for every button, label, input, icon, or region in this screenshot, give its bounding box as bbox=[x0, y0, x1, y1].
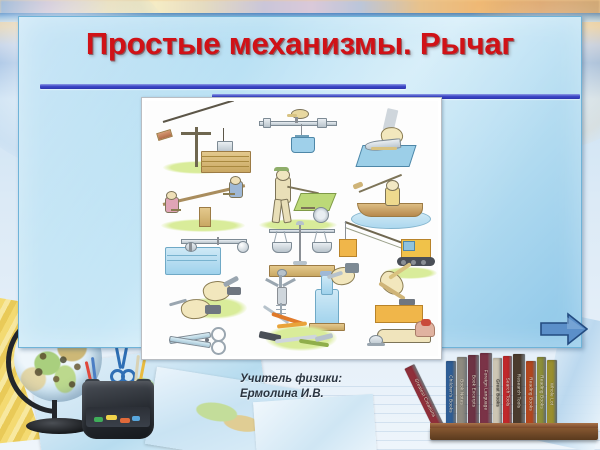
globe-stem bbox=[52, 400, 57, 420]
book-spine[interactable]: Reading Books bbox=[537, 357, 546, 427]
book-title: Whole Lot bbox=[550, 382, 555, 404]
organizer-marker bbox=[106, 415, 117, 420]
page-title: Простые механизмы. Рычаг bbox=[0, 26, 600, 62]
book-row: Greatest CreationsChildren's BooksBook N… bbox=[434, 353, 557, 427]
book-spine[interactable]: Book Excerpts bbox=[468, 355, 479, 427]
illustration-cistern-float-valve bbox=[165, 233, 253, 277]
author-caption: Учитель физики: Ермолина И.В. bbox=[240, 372, 430, 402]
caption-line-name: Ермолина И.В. bbox=[240, 387, 430, 402]
book-title: Book Notes bbox=[460, 379, 465, 405]
book-spine[interactable]: Foreign Language bbox=[480, 353, 492, 427]
book-spine[interactable]: Research Tools bbox=[513, 354, 525, 427]
book-spine[interactable]: Search Tools bbox=[503, 356, 512, 427]
illustration-frame bbox=[141, 97, 442, 360]
book-spine[interactable]: Reading Books bbox=[526, 361, 536, 427]
book-title: Research Tools bbox=[517, 373, 522, 407]
illustration-forearm-lever bbox=[367, 319, 438, 355]
illustration-well-crane-shadoof bbox=[157, 115, 255, 177]
organizer-marker bbox=[120, 418, 130, 423]
book-title: Reading Books bbox=[529, 377, 534, 411]
book-title: Foreign Language bbox=[484, 370, 489, 411]
book-title: Great Books bbox=[495, 379, 500, 407]
book-title: Children's Books bbox=[449, 375, 454, 413]
illustration-balance-beam-weight bbox=[257, 109, 341, 165]
book-spine[interactable]: Book Notes bbox=[457, 357, 467, 427]
illustration-hands-with-tools bbox=[165, 277, 257, 329]
presentation-slide: Greatest CreationsChildren's BooksBook N… bbox=[0, 0, 600, 450]
bookshelf: Greatest CreationsChildren's BooksBook N… bbox=[430, 350, 600, 446]
book-title: Book Excerpts bbox=[471, 375, 476, 407]
organizer-clip bbox=[132, 416, 140, 421]
title-underline-top bbox=[40, 84, 406, 89]
illustration-scissors bbox=[169, 325, 239, 355]
next-arrow-icon[interactable] bbox=[540, 312, 588, 346]
caption-line-role: Учитель физики: bbox=[240, 372, 430, 387]
illustration-hand-pouring-tool bbox=[351, 107, 425, 169]
book-spine[interactable]: Great Books bbox=[493, 358, 502, 427]
book-title: Search Tools bbox=[505, 377, 510, 406]
illustration-canvas bbox=[145, 101, 438, 356]
organizer-scissors-icon bbox=[108, 347, 134, 383]
organizer-eraser bbox=[94, 417, 103, 422]
illustration-seesaw-children bbox=[159, 179, 253, 233]
book-spine[interactable]: Children's Books bbox=[446, 361, 456, 427]
shelf-board bbox=[430, 427, 598, 440]
background-map-sheet bbox=[253, 394, 377, 450]
book-title: Reading Books bbox=[539, 375, 544, 409]
illustration-pliers bbox=[255, 311, 347, 356]
book-spine[interactable]: Whole Lot bbox=[547, 360, 557, 427]
